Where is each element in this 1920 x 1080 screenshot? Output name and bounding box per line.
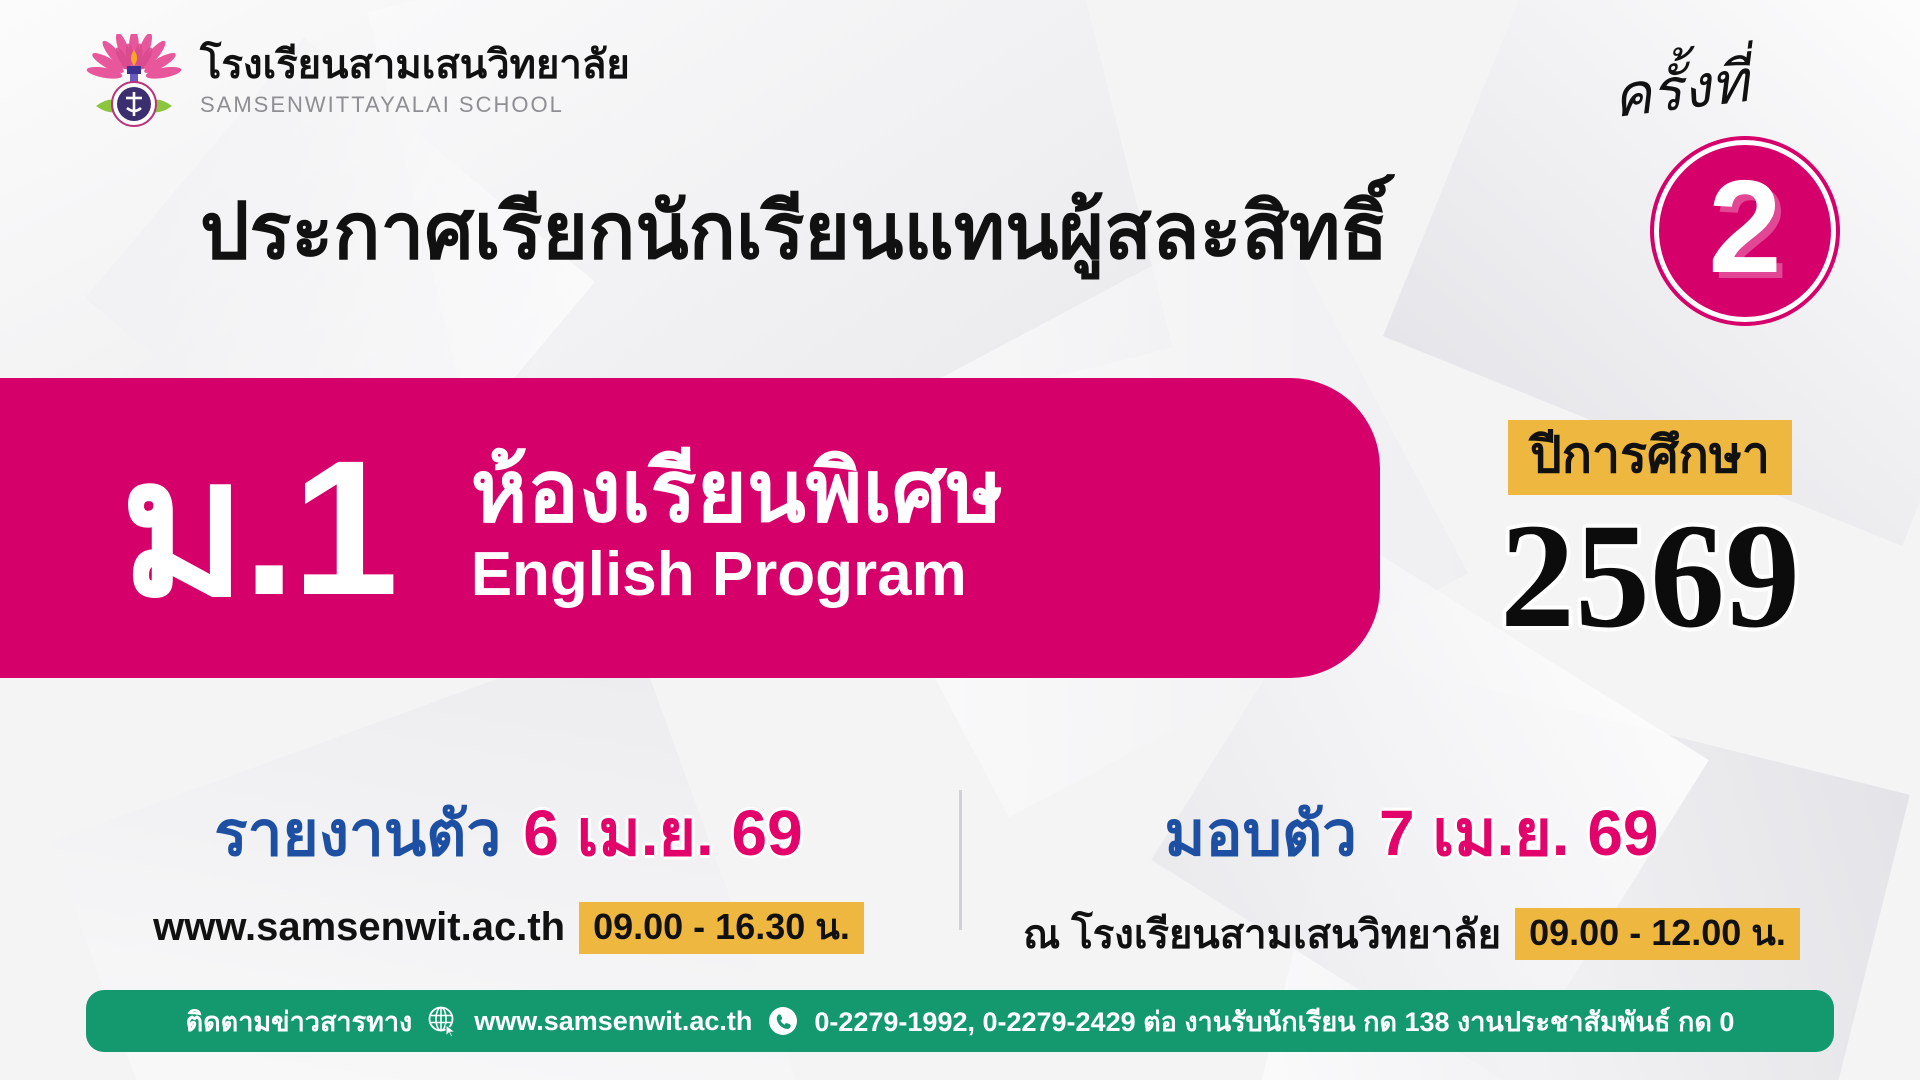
page-title: ประกาศเรียกนักเรียนแทนผู้สละสิทธิ์	[200, 192, 1388, 270]
academic-year-label: ปีการศึกษา	[1508, 420, 1792, 495]
enrollment-label: มอบตัว	[1164, 785, 1357, 883]
globe-cursor-icon	[426, 1004, 460, 1038]
poster-header: โรงเรียนสามเสนวิทยาลัย SAMSENWITTAYALAI …	[86, 34, 630, 134]
report-label: รายงานตัว	[214, 785, 501, 883]
enrollment-location: ณ โรงเรียนสามเสนวิทยาลัย	[1023, 902, 1501, 966]
enrollment-date: 7 เม.ย. 69	[1379, 782, 1658, 884]
school-crest-icon	[86, 34, 182, 134]
report-time: 09.00 - 16.30 น.	[579, 902, 864, 954]
badge-script-label: ครั้งที่	[1607, 34, 1754, 143]
academic-year-block: ปีการศึกษา 2569	[1432, 420, 1868, 651]
round-badge: ครั้งที่ 2	[1598, 36, 1858, 316]
footer-website[interactable]: www.samsenwit.ac.th	[474, 1006, 752, 1037]
grade-level: ม.1	[120, 432, 395, 624]
school-name-en: SAMSENWITTAYALAI SCHOOL	[200, 92, 630, 118]
enrollment-date-block: มอบตัว 7 เม.ย. 69 ณ โรงเรียนสามเสนวิทยาล…	[962, 782, 1862, 966]
report-date: 6 เม.ย. 69	[523, 782, 802, 884]
program-name-en: English Program	[471, 541, 1003, 609]
school-name-th: โรงเรียนสามเสนวิทยาลัย	[200, 44, 630, 86]
phone-icon	[766, 1004, 800, 1038]
report-website[interactable]: www.samsenwit.ac.th	[153, 905, 565, 950]
follow-label: ติดตามข่าวสารทาง	[186, 1000, 413, 1043]
badge-number: 2	[1708, 161, 1781, 293]
badge-circle: 2	[1654, 140, 1836, 322]
academic-year-value: 2569	[1432, 501, 1868, 651]
footer-phone: 0-2279-1992, 0-2279-2429 ต่อ งานรับนักเร…	[814, 1000, 1734, 1043]
program-banner: ม.1 ห้องเรียนพิเศษ English Program	[0, 378, 1380, 678]
enrollment-time: 09.00 - 12.00 น.	[1515, 908, 1800, 960]
report-date-block: รายงานตัว 6 เม.ย. 69 www.samsenwit.ac.th…	[59, 782, 959, 954]
program-name-th: ห้องเรียนพิเศษ	[471, 447, 1003, 537]
dates-row: รายงานตัว 6 เม.ย. 69 www.samsenwit.ac.th…	[0, 782, 1920, 966]
contact-footer: ติดตามข่าวสารทาง www.samsenwit.ac.th 0-2…	[86, 990, 1834, 1052]
